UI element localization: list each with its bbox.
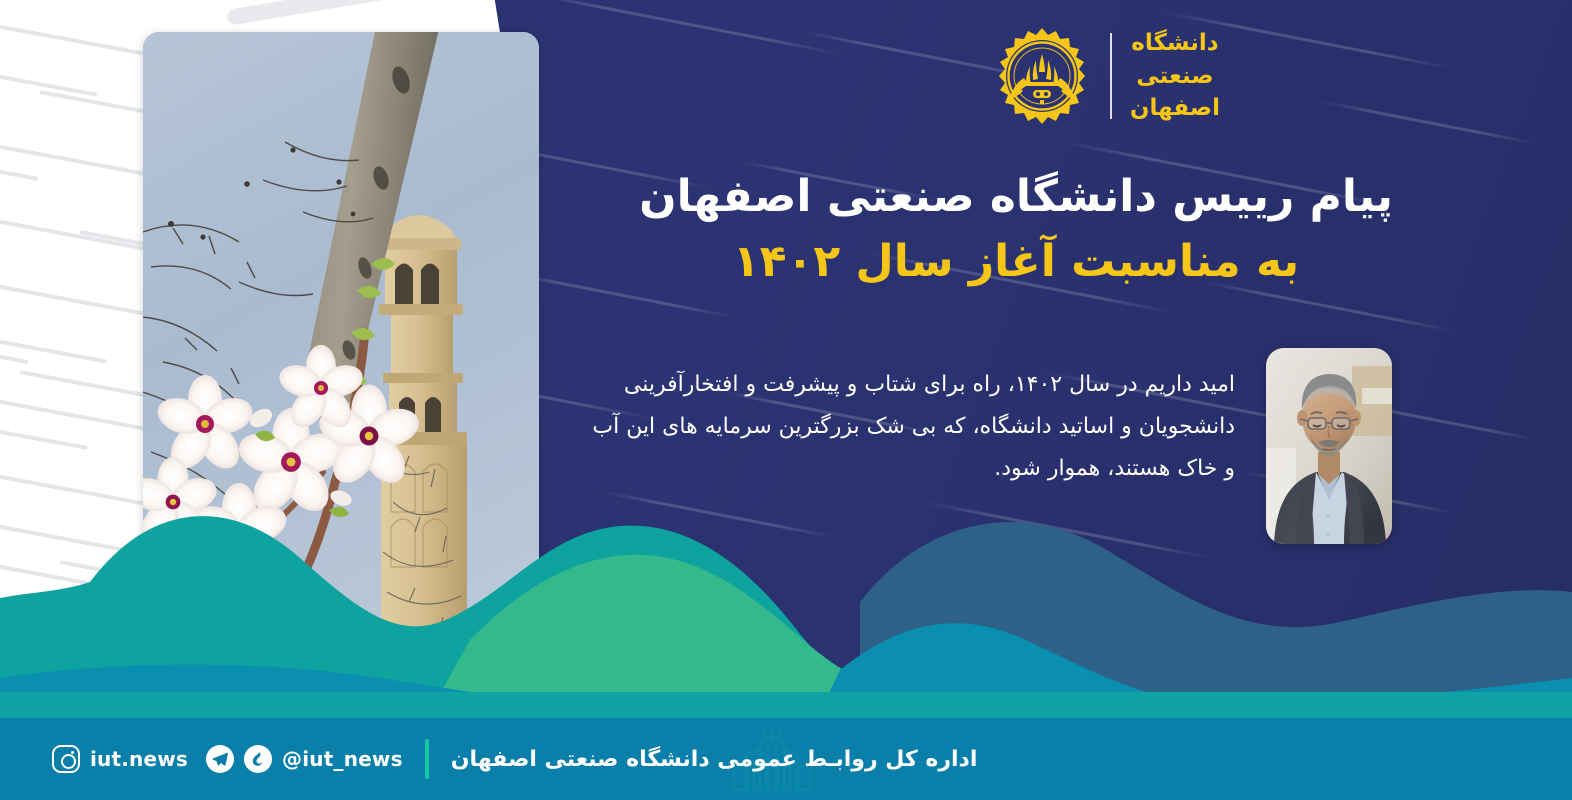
logo-text-line2: صنعتی bbox=[1130, 60, 1220, 93]
iut-gear-emblem-icon bbox=[992, 26, 1092, 126]
headline-line-1: پیام رییس دانشگاه صنعتی اصفهان bbox=[636, 168, 1396, 227]
bale-icon[interactable] bbox=[244, 745, 272, 773]
instagram-icon[interactable] bbox=[52, 745, 80, 773]
headline-block: پیام رییس دانشگاه صنعتی اصفهان به مناسبت… bbox=[636, 168, 1396, 292]
headline-line-2: به مناسبت آغاز سال ۱۴۰۲ bbox=[636, 233, 1396, 292]
university-logo-text: دانشگاه صنعتی اصفهان bbox=[1130, 27, 1220, 125]
banner-root: iut.news @iut_news اداره کل روابـط عموم bbox=[0, 0, 1572, 800]
footer-divider bbox=[425, 739, 429, 779]
logo-divider bbox=[1110, 33, 1112, 119]
messaging-handle[interactable]: @iut_news bbox=[282, 747, 403, 771]
university-logo-block: دانشگاه صنعتی اصفهان bbox=[992, 26, 1220, 126]
logo-text-line1: دانشگاه bbox=[1130, 27, 1220, 60]
message-paragraph: امید داریم در سال ۱۴۰۲، راه برای شتاب و … bbox=[575, 364, 1235, 491]
public-relations-label: اداره کل روابـط عمومی دانشگاه صنعتی اصفه… bbox=[451, 747, 978, 772]
instagram-social-group[interactable]: iut.news bbox=[52, 745, 188, 773]
messaging-social-group[interactable]: @iut_news bbox=[206, 745, 403, 773]
telegram-icon[interactable] bbox=[206, 745, 234, 773]
university-president-portrait bbox=[1266, 348, 1392, 544]
footer-bar: iut.news @iut_news اداره کل روابـط عموم bbox=[0, 718, 1572, 800]
logo-text-line3: اصفهان bbox=[1130, 92, 1220, 125]
teal-band bbox=[0, 692, 1572, 718]
instagram-handle[interactable]: iut.news bbox=[90, 747, 188, 771]
